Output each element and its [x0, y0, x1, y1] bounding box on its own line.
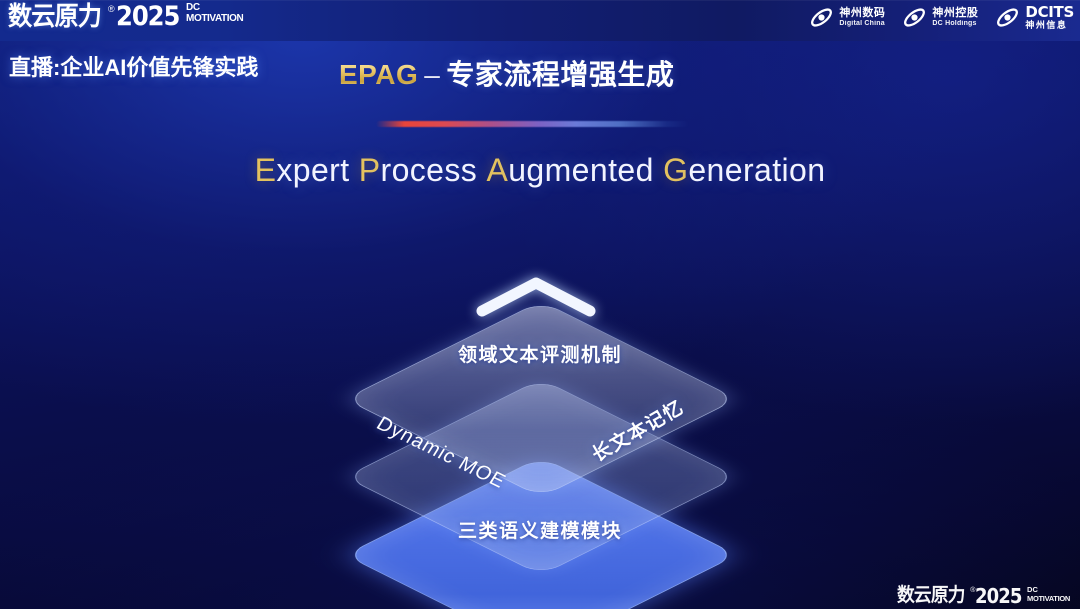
subtitle-cap-e: E [255, 152, 277, 188]
watermark-name-cn: 数云原力 [897, 586, 965, 605]
partner-dcits: DCITS 神州信息 [994, 4, 1074, 31]
partner-name-en: Digital China [839, 20, 885, 27]
subtitle-rest-expert: xpert [276, 152, 349, 188]
subtitle-rest-process: rocess [381, 152, 478, 188]
partner-text: DCITS 神州信息 [1025, 5, 1074, 30]
swirl-logo-icon [901, 4, 928, 31]
layer-bottom-label: 三类语义建模模块 [290, 516, 790, 543]
brand-name-cn: 数云原力 [8, 3, 101, 29]
chevron-up-icon [473, 274, 599, 320]
title-chinese: 专家流程增强生成 [446, 59, 674, 90]
partner-logos: 神州数码 Digital China 神州控股 DC Holdings [808, 4, 1074, 31]
brand-year: 2025 [116, 3, 179, 30]
partner-digital-china: 神州数码 Digital China [808, 4, 885, 31]
partner-name-en: DCITS [1025, 5, 1074, 21]
title-acronym: EPAG [339, 59, 418, 90]
brand-dc-motivation: DC MOTIVATION [186, 3, 243, 24]
partner-text: 神州控股 DC Holdings [932, 8, 978, 27]
presentation-slide: 数云原力 ® 2025 DC MOTIVATION 神州数码 Digital C… [0, 0, 1080, 609]
registered-mark: ® [108, 5, 115, 14]
watermark-motivation: MOTIVATION [1027, 595, 1070, 603]
gradient-divider [376, 121, 689, 127]
subtitle-rest-generation: eneration [688, 152, 825, 188]
brand-dc: DC [186, 3, 243, 13]
partner-name-cn: 神州控股 [932, 8, 978, 20]
partner-dc-holdings: 神州控股 DC Holdings [901, 4, 978, 31]
swirl-logo-icon [808, 4, 835, 31]
watermark-dc-motivation: DC MOTIVATION [1027, 586, 1070, 602]
brand-watermark: 数云原力 ® 2025 DC MOTIVATION [897, 586, 1070, 606]
brand-motivation: MOTIVATION [186, 14, 243, 24]
partner-name-cn: 神州信息 [1025, 21, 1074, 30]
watermark-dc: DC [1027, 586, 1070, 594]
subtitle-cap-p: P [359, 152, 381, 188]
layer-top-label: 领域文本评测机制 [290, 340, 790, 367]
subtitle-cap-a: A [486, 152, 508, 188]
layered-architecture-diagram: 领域文本评测机制 Dynamic MOE 长文本记忆 三类语义建模模块 [290, 228, 790, 588]
subtitle-rest-augmented: ugmented [508, 152, 654, 188]
partner-name-cn: 神州数码 [839, 8, 885, 20]
title-dash: – [424, 59, 440, 90]
partner-name-en: DC Holdings [932, 20, 978, 27]
page-title: EPAG–专家流程增强生成 [339, 53, 674, 93]
english-subtitle: Expert Process Augmented Generation [0, 152, 1080, 189]
subtitle-cap-g: G [663, 152, 688, 188]
brand-logo: 数云原力 ® 2025 DC MOTIVATION [8, 3, 243, 30]
partner-text: 神州数码 Digital China [839, 8, 885, 27]
top-banner: 数云原力 ® 2025 DC MOTIVATION 神州数码 Digital C… [0, 0, 1080, 41]
swirl-logo-icon [994, 4, 1021, 31]
watermark-year: 2025 [975, 586, 1022, 606]
live-session-label: 直播:企业AI价值先锋实践 [9, 50, 258, 82]
